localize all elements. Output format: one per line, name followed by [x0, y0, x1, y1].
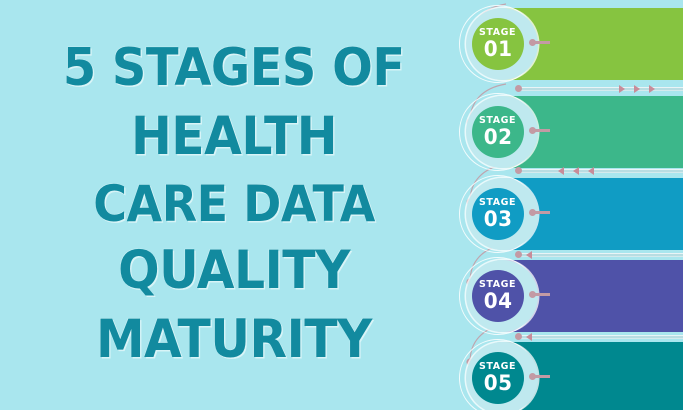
- arrow-left-icon: [558, 167, 564, 175]
- stage-badge-04[interactable]: STAGE 04: [472, 270, 524, 322]
- connector-arrows-3: [526, 250, 532, 260]
- arrow-right-icon: [649, 85, 655, 93]
- stage-row-04[interactable]: STAGE 04: [462, 260, 683, 332]
- stage-badge-01[interactable]: STAGE 01: [472, 18, 524, 70]
- stage-badge-02[interactable]: STAGE 02: [472, 106, 524, 158]
- stage-badge-03[interactable]: STAGE 03: [472, 188, 524, 240]
- page-title: 5 STAGES OF HEALTH CARE DATA QUALITY MAT…: [0, 0, 462, 410]
- title-line-1: 5 STAGES OF: [63, 35, 405, 103]
- title-line-2: HEALTH: [131, 103, 337, 172]
- stage-rail: STAGE 01 STAGE 02: [462, 0, 683, 410]
- title-line-4: QUALITY: [118, 237, 350, 306]
- connector-line-3: [518, 253, 683, 257]
- stage-row-01[interactable]: STAGE 01: [462, 8, 683, 80]
- stage-connector-2: [462, 166, 683, 176]
- stage-connector-nub-01: [534, 41, 550, 44]
- arrow-right-icon: [619, 85, 625, 93]
- stage-connector-nub-04: [534, 293, 550, 296]
- arrow-right-icon: [634, 85, 640, 93]
- connector-line-1: [518, 87, 683, 91]
- stage-number-04: 04: [484, 290, 513, 312]
- stage-connector-3: [462, 250, 683, 260]
- stage-connector-nub-03: [534, 211, 550, 214]
- connector-arrows-2: [558, 166, 594, 176]
- stage-connector-nub-05: [534, 375, 550, 378]
- connector-dot-2: [515, 167, 522, 174]
- connector-dot-4: [515, 333, 522, 340]
- title-line-5: MATURITY: [96, 306, 372, 375]
- stage-row-05[interactable]: STAGE 05: [462, 342, 683, 410]
- stage-number-01: 01: [484, 38, 513, 60]
- stage-row-02[interactable]: STAGE 02: [462, 96, 683, 168]
- arrow-left-icon: [526, 333, 532, 341]
- connector-dot-1: [515, 85, 522, 92]
- stage-number-05: 05: [484, 372, 513, 394]
- arrow-left-icon: [588, 167, 594, 175]
- connector-line-2: [518, 169, 683, 173]
- stage-badge-05[interactable]: STAGE 05: [472, 352, 524, 404]
- stage-connector-4: [462, 332, 683, 342]
- arrow-left-icon: [573, 167, 579, 175]
- arrow-left-icon: [526, 251, 532, 259]
- connector-arrows-4: [526, 332, 532, 342]
- stage-row-03[interactable]: STAGE 03: [462, 178, 683, 250]
- connector-arrows-1: [619, 84, 655, 94]
- stage-connector-nub-02: [534, 129, 550, 132]
- title-line-3: CARE DATA: [93, 172, 375, 237]
- connector-dot-3: [515, 251, 522, 258]
- stage-number-02: 02: [484, 126, 513, 148]
- connector-line-4: [518, 335, 683, 339]
- stage-number-03: 03: [484, 208, 513, 230]
- stage-connector-1: [462, 84, 683, 94]
- infographic-canvas: 5 STAGES OF HEALTH CARE DATA QUALITY MAT…: [0, 0, 683, 410]
